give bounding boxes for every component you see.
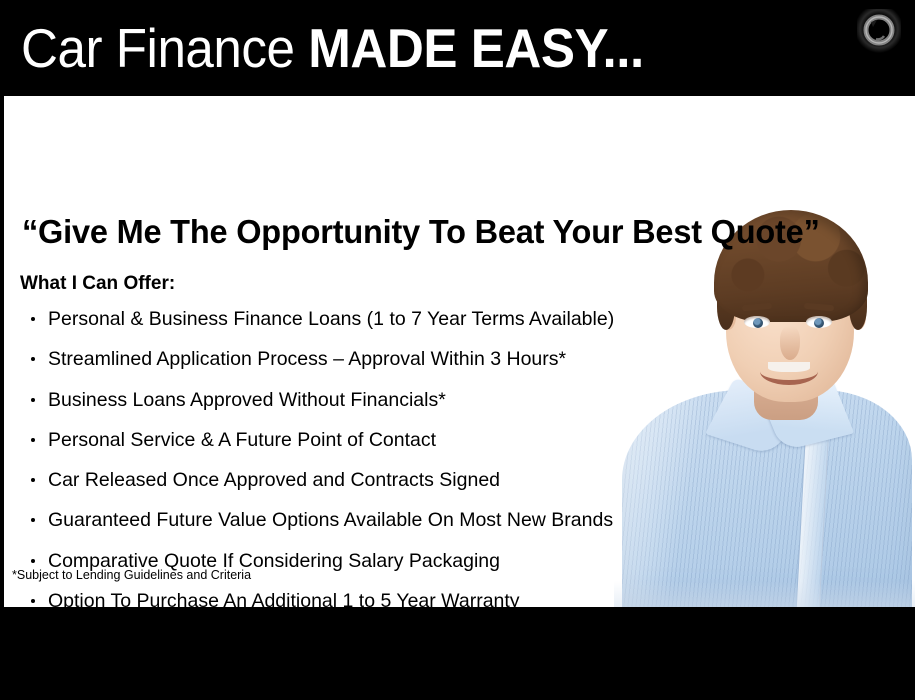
sideburn-left <box>717 284 735 330</box>
list-item-label: Guaranteed Future Value Options Availabl… <box>48 509 613 531</box>
list-item: Streamlined Application Process – Approv… <box>30 345 690 385</box>
list-item-label: Car Released Once Approved and Contracts… <box>48 469 500 491</box>
list-item: Personal & Business Finance Loans (1 to … <box>30 305 690 345</box>
sideburn-right <box>849 284 867 330</box>
eye-right <box>806 316 832 328</box>
ear-right <box>850 304 866 330</box>
header-band: Car Finance MADE EASY... <box>0 0 915 96</box>
bullet-icon <box>31 599 35 603</box>
teeth-shape <box>768 362 810 372</box>
offer-label: What I Can Offer: <box>20 272 175 296</box>
list-item-label: Business Loans Approved Without Financia… <box>48 389 446 411</box>
bullet-icon <box>31 518 35 522</box>
bullet-icon <box>31 478 35 482</box>
list-item: Option To Purchase An Additional 1 to 5 … <box>30 587 690 607</box>
list-item: Personal Service & A Future Point of Con… <box>30 426 690 466</box>
list-item-label: Streamlined Application Process – Approv… <box>48 348 566 370</box>
list-item-label: Personal Service & A Future Point of Con… <box>48 429 436 451</box>
eyebrow-right <box>804 303 834 312</box>
page-title-bold: MADE EASY... <box>308 17 643 79</box>
list-item-label: Option To Purchase An Additional 1 to 5 … <box>48 590 520 607</box>
shirt-collar-right <box>760 377 854 451</box>
content-card: “Give Me The Opportunity To Beat Your Be… <box>0 96 915 607</box>
page-title: Car Finance MADE EASY... <box>21 16 644 80</box>
slide-canvas: Car Finance MADE EASY... <box>0 0 915 700</box>
eyebrow-left <box>742 303 772 312</box>
list-item: Business Loans Approved Without Financia… <box>30 386 690 426</box>
eye-left <box>744 316 770 328</box>
footnote-disclaimer: *Subject to Lending Guidelines and Crite… <box>12 567 251 583</box>
bullet-icon <box>31 438 35 442</box>
ear-left <box>720 304 736 330</box>
neck-shape <box>754 358 818 420</box>
bullet-icon <box>31 398 35 402</box>
bullet-icon <box>31 559 35 563</box>
shirt-collar-left <box>705 378 803 456</box>
page-title-light: Car Finance <box>21 17 308 79</box>
list-item-label: Personal & Business Finance Loans (1 to … <box>48 308 614 330</box>
face-shape <box>726 242 854 402</box>
list-item: Car Released Once Approved and Contracts… <box>30 466 690 506</box>
smile-shape <box>760 358 818 385</box>
footer-band <box>0 607 915 700</box>
nose-shape <box>780 326 800 360</box>
list-item: Guaranteed Future Value Options Availabl… <box>30 506 690 546</box>
benefits-list: Personal & Business Finance Loans (1 to … <box>30 305 690 607</box>
shirt-placket <box>795 435 828 607</box>
iris-left <box>753 318 763 328</box>
ring-logo-icon <box>857 9 901 53</box>
bullet-icon <box>31 357 35 361</box>
bullet-icon <box>31 317 35 321</box>
headline-quote: “Give Me The Opportunity To Beat Your Be… <box>22 210 889 254</box>
iris-right <box>814 318 824 328</box>
